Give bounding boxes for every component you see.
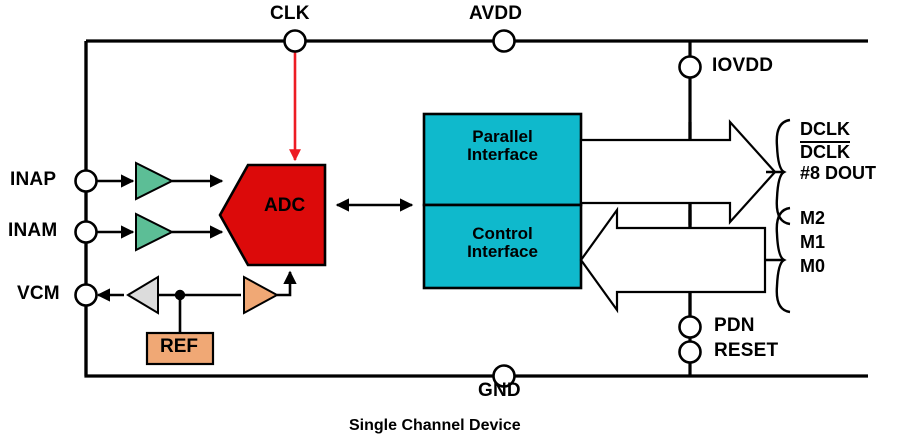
- reference-wires: [175, 290, 241, 333]
- mode-bus-labels: M2 M1 M0: [800, 209, 825, 276]
- vcm-buffer-amplifier: [98, 277, 180, 313]
- block-diagram: CLK AVDD IOVDD INAP INAM VCM GND PDN RES…: [0, 0, 900, 445]
- output-bus-labels: DCLK DCLK #8 DOUT: [800, 120, 876, 183]
- control-interface-label-line2: Interface: [424, 243, 581, 261]
- input-amplifier-inap: [136, 163, 172, 199]
- pin-label-inap: INAP: [10, 170, 56, 190]
- output-bus-label-dout: #8 DOUT: [800, 164, 876, 183]
- pin-label-gnd: GND: [478, 381, 521, 401]
- parallel-interface-label-line2: Interface: [424, 146, 581, 164]
- reference-amplifier: [244, 272, 290, 313]
- pin-label-clk: CLK: [270, 4, 310, 24]
- mode-bus-label-m1: M1: [800, 233, 825, 252]
- output-bus-label-dclk: DCLK: [800, 120, 876, 139]
- pin-label-vcm: VCM: [17, 284, 60, 304]
- parallel-interface-label: Parallel Interface: [424, 128, 581, 164]
- pin-label-iovdd: IOVDD: [712, 56, 773, 76]
- pin-label-avdd: AVDD: [469, 4, 522, 24]
- adc-block-label: ADC: [264, 196, 305, 216]
- output-bus-label-dclk-inverted: DCLK: [800, 141, 876, 162]
- reference-block-label: REF: [160, 337, 198, 357]
- diagram-caption: Single Channel Device: [349, 418, 521, 435]
- mode-bus-arrow: [581, 210, 765, 318]
- mode-bus-label-m2: M2: [800, 209, 825, 228]
- pin-label-pdn: PDN: [714, 316, 755, 336]
- parallel-interface-label-line1: Parallel: [424, 128, 581, 146]
- pin-label-inam: INAM: [8, 221, 57, 241]
- control-interface-label: Control Interface: [424, 225, 581, 261]
- pin-label-reset: RESET: [714, 341, 778, 361]
- input-wires: [97, 181, 222, 232]
- mode-bus-label-m0: M0: [800, 257, 825, 276]
- input-amplifier-inam: [136, 214, 172, 250]
- control-interface-label-line1: Control: [424, 225, 581, 243]
- output-bus-arrow: [581, 122, 775, 225]
